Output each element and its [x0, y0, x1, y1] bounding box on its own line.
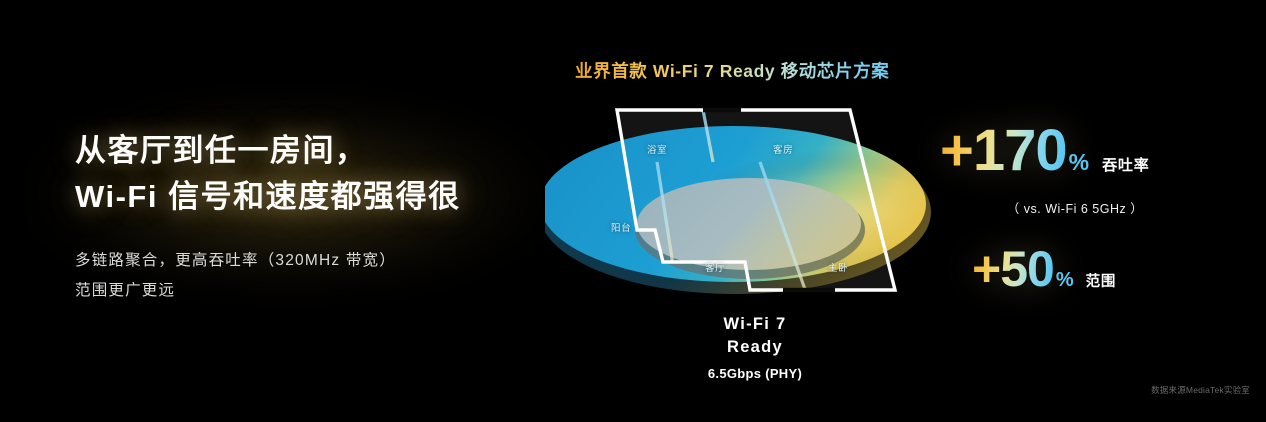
room-label-bathroom: 浴室 — [647, 142, 667, 156]
center-title: 业界首款 Wi-Fi 7 Ready 移动芯片方案 — [575, 58, 935, 83]
subtext-line-2: 范围更广更远 — [75, 276, 545, 306]
stat-throughput-percent: % — [1069, 149, 1089, 176]
stat-throughput-value: +170 — [940, 122, 1067, 180]
stat-throughput-label: 吞吐率 — [1102, 154, 1149, 175]
headline-line-1: 从客厅到任一房间， — [75, 128, 545, 174]
caption-line-3: 6.5Gbps (PHY) — [605, 366, 905, 381]
room-label-guestroom: 客房 — [773, 142, 793, 156]
stat-comparison-note: （ vs. Wi-Fi 6 5GHz ） — [965, 198, 1185, 217]
coverage-diagram-svg — [545, 90, 945, 310]
caption-line-2: Ready — [605, 336, 905, 359]
room-label-livingroom: 客厅 — [705, 260, 725, 274]
caption-line-1: Wi-Fi 7 — [605, 313, 905, 336]
stat-range-value: +50 — [972, 244, 1054, 294]
stat-range-label: 范围 — [1086, 270, 1117, 291]
diagram-caption: Wi-Fi 7 Ready 6.5Gbps (PHY) — [605, 313, 905, 381]
left-copy-block: 从客厅到任一房间， Wi-Fi 信号和速度都强得很 多链路聚合，更高吞吐率（32… — [75, 128, 545, 306]
headline-line-2: Wi-Fi 信号和速度都强得很 — [75, 174, 545, 220]
slide-canvas: 从客厅到任一房间， Wi-Fi 信号和速度都强得很 多链路聚合，更高吞吐率（32… — [0, 0, 1266, 422]
coverage-diagram: 浴室 客房 阳台 客厅 主卧 — [545, 90, 945, 310]
room-label-balcony: 阳台 — [611, 220, 631, 234]
stat-range-percent: % — [1056, 269, 1074, 292]
subtext-line-1: 多链路聚合，更高吞吐率（320MHz 带宽） — [75, 246, 545, 276]
data-source-footnote: 数据来源MediaTek实验室 — [1151, 384, 1250, 396]
stat-range: +50 % 范围 — [972, 244, 1116, 294]
room-label-masterbedroom: 主卧 — [828, 260, 848, 274]
stat-throughput: +170 % 吞吐率 — [940, 122, 1150, 180]
